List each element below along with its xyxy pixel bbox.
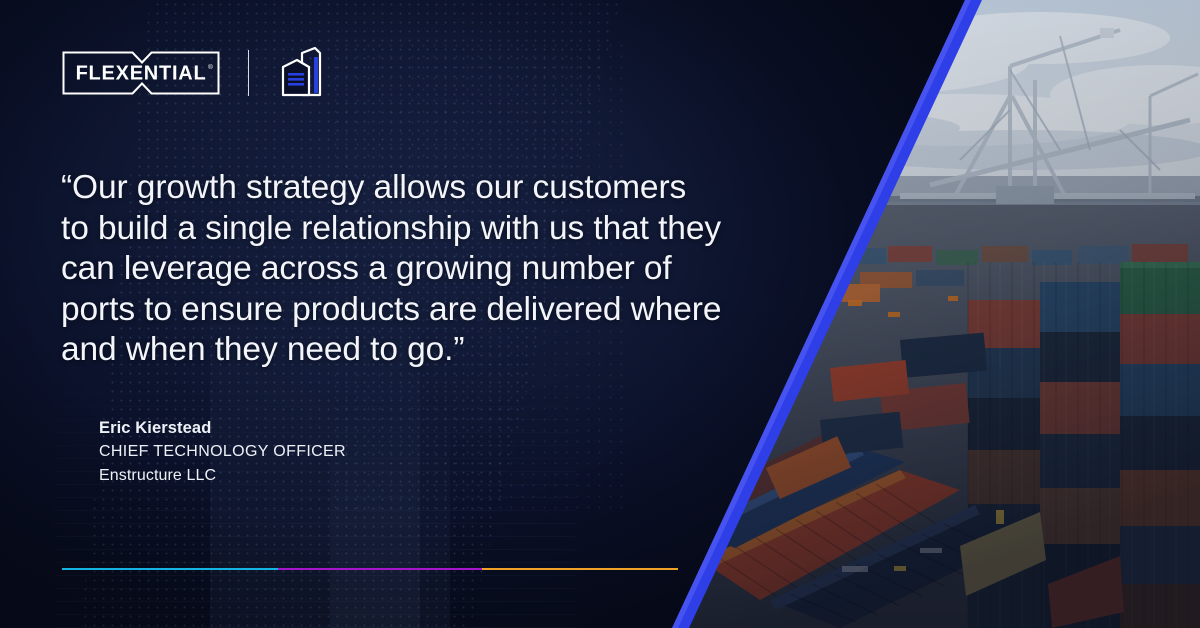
brand-divider: [248, 50, 249, 96]
orange-segment: [482, 568, 678, 570]
magenta-segment: [278, 568, 482, 570]
warehouse-building-icon[interactable]: [279, 47, 325, 99]
attribution-name: Eric Kierstead: [99, 417, 346, 440]
cyan-segment: [62, 568, 278, 570]
flexential-wordmark: FLEXENTIAL: [76, 63, 207, 85]
registered-trademark-mark: ®: [208, 63, 213, 71]
accent-rule: [62, 568, 678, 570]
attribution-block: Eric Kierstead CHIEF TECHNOLOGY OFFICER …: [99, 417, 346, 487]
brand-header: FLEXENTIAL ®: [62, 45, 325, 101]
flexential-logo[interactable]: FLEXENTIAL ®: [62, 51, 220, 95]
pull-quote-text: “Our growth strategy allows our customer…: [61, 168, 741, 371]
attribution-title: CHIEF TECHNOLOGY OFFICER: [99, 440, 346, 464]
attribution-company: Enstructure LLC: [99, 464, 346, 488]
promo-quote-card: FLEXENTIAL ® “Our growth strategy allows…: [0, 0, 1200, 628]
